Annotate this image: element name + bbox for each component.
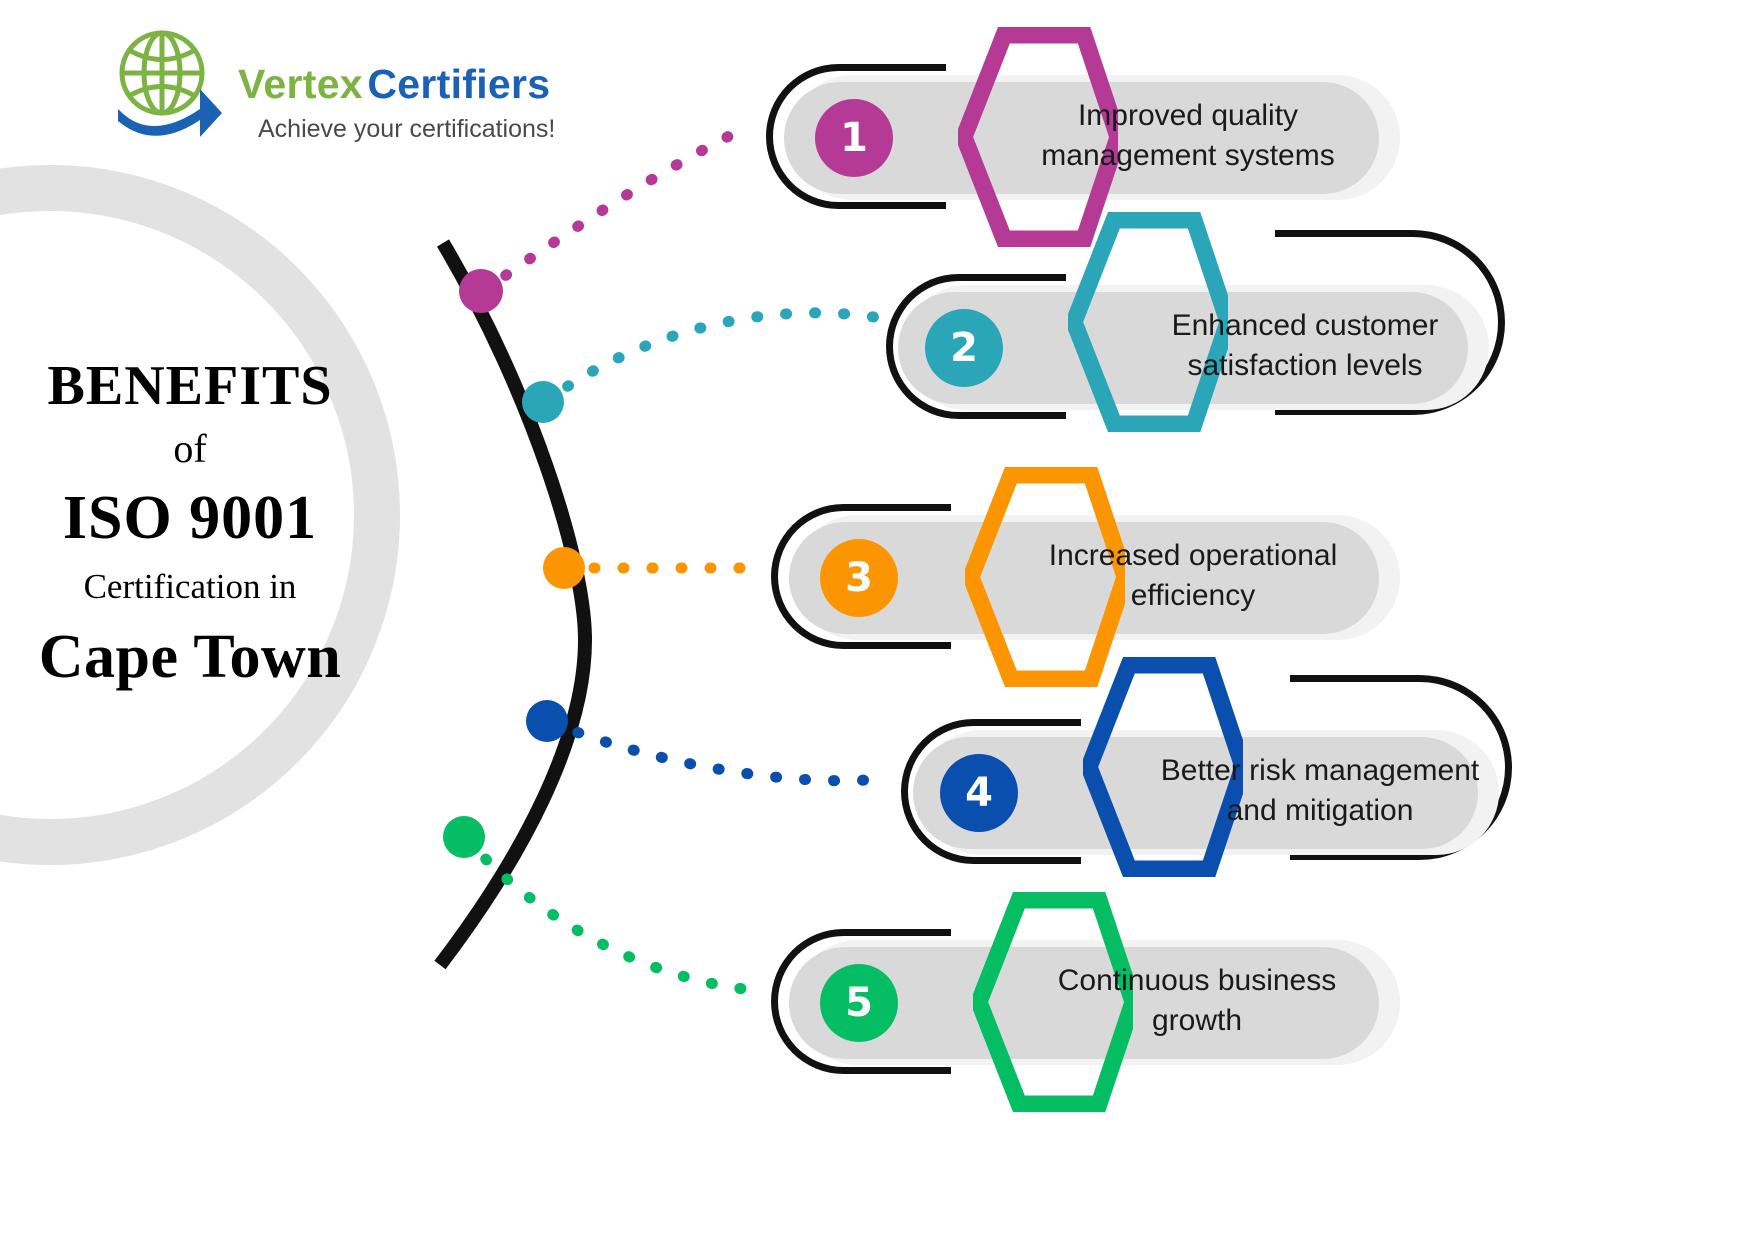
title-line-benefits: BENEFITS	[0, 355, 380, 418]
benefit-item-3[interactable]: 3 Increased operational efficiency	[765, 470, 1385, 680]
benefit-item-1[interactable]: 1 Improved quality management systems	[760, 30, 1380, 240]
badge-number-5: 5	[820, 964, 898, 1042]
brand-name: Vertex Certifiers	[238, 61, 550, 108]
benefit-item-5[interactable]: 5 Continuous business growth	[765, 895, 1385, 1105]
benefit-label-1: Improved quality management systems	[1008, 58, 1368, 213]
badge-number-2: 2	[925, 309, 1003, 387]
connector-dotted-1	[482, 128, 745, 292]
arc-spine	[440, 243, 585, 965]
benefit-label-2: Enhanced customer satisfaction levels	[1120, 268, 1490, 423]
connector-dotted-2	[544, 313, 880, 403]
node-dot-4	[526, 700, 568, 742]
title-line-city: Cape Town	[0, 617, 380, 698]
benefit-label-5: Continuous business growth	[1017, 923, 1377, 1078]
connector-dotted-5	[466, 838, 752, 990]
brand-tagline: Achieve your certifications!	[258, 115, 555, 144]
brand-logo: Vertex Certifiers Achieve your certifica…	[110, 25, 550, 145]
title-line-standard: ISO 9001	[0, 480, 380, 558]
connector-dotted-4	[551, 722, 890, 781]
benefit-item-4[interactable]: 4 Better risk management and mitigation	[895, 685, 1530, 895]
node-dot-3	[543, 547, 585, 589]
globe-arrow-icon	[110, 25, 225, 140]
brand-name-part1: Vertex	[238, 61, 363, 107]
node-dot-2	[522, 381, 564, 423]
infographic-canvas: Vertex Certifiers Achieve your certifica…	[0, 0, 1748, 1240]
page-title: BENEFITS of ISO 9001 Certification in Ca…	[0, 355, 380, 697]
title-line-certification: Certification in	[0, 557, 380, 617]
benefit-label-4: Better risk management and mitigation	[1135, 713, 1505, 868]
badge-number-1: 1	[815, 99, 893, 177]
node-dot-5	[443, 816, 485, 858]
badge-number-3: 3	[820, 539, 898, 617]
node-dot-1	[459, 269, 503, 313]
brand-name-part2: Certifiers	[367, 61, 550, 107]
benefit-item-2[interactable]: 2 Enhanced customer satisfaction levels	[880, 240, 1520, 450]
benefit-label-3: Increased operational efficiency	[1013, 498, 1373, 653]
badge-number-4: 4	[940, 754, 1018, 832]
title-line-of: of	[0, 418, 380, 480]
